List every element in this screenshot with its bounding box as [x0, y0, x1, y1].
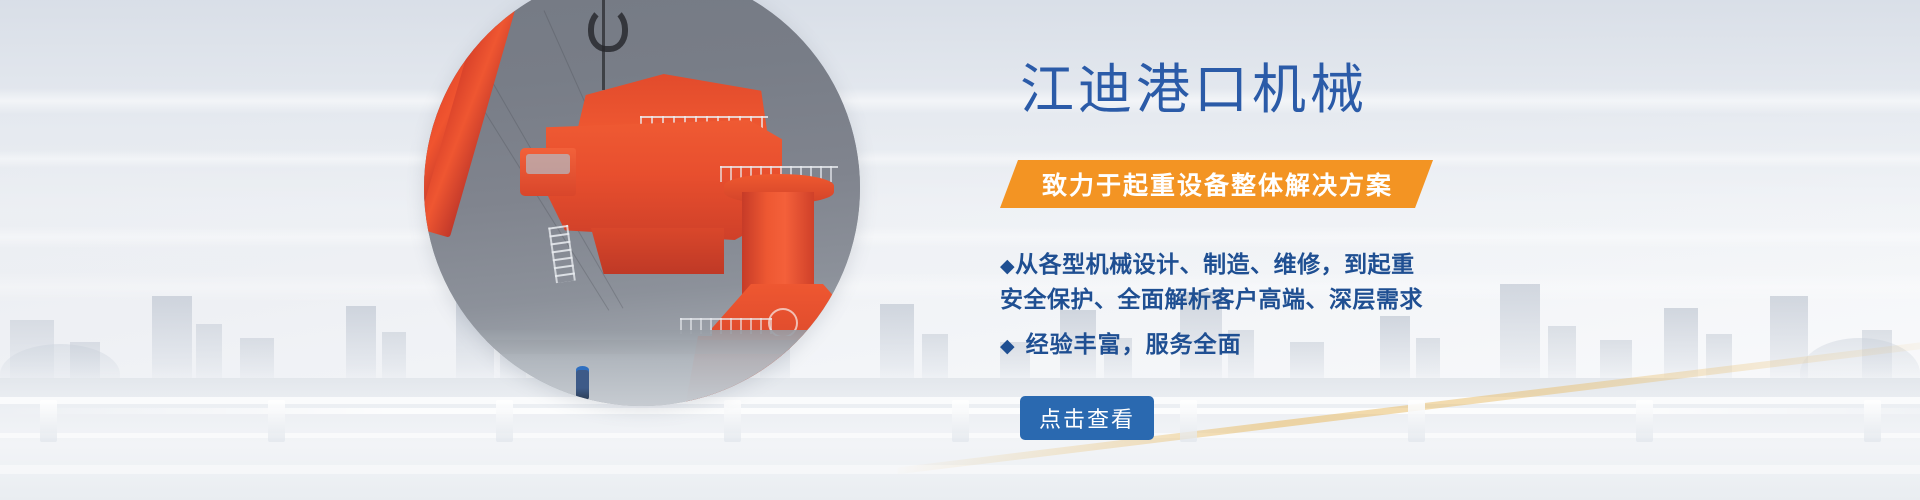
dock-worker	[576, 370, 589, 400]
slogan-ribbon: 致力于起重设备整体解决方案	[1000, 160, 1433, 208]
crane-photo-circle	[424, 0, 860, 406]
crane-hook	[588, 6, 628, 52]
harbor-water	[424, 330, 860, 406]
cloud-streak	[0, 150, 1920, 168]
page-title: 江迪港口机械	[1020, 58, 1368, 122]
feature-paragraph-line1: 从各型机械设计、制造、维修，到起重	[1015, 251, 1415, 277]
banner-content: 江迪港口机械 致力于起重设备整体解决方案 ◆从各型机械设计、制造、维修，到起重安…	[1010, 0, 1570, 500]
diamond-bullet-icon: ◆	[1000, 336, 1016, 357]
cab-window	[526, 154, 570, 174]
cloud-streak	[0, 88, 1920, 114]
feature-item-secondary: ◆经验丰富，服务全面	[1000, 328, 1242, 363]
crane-spreader	[584, 228, 724, 274]
feature-list: ◆从各型机械设计、制造、维修，到起重安全保护、全面解析客户高端、深层需求	[1000, 248, 1520, 316]
feature-paragraph-line2: 安全保护、全面解析客户高端、深层需求	[1000, 286, 1423, 312]
cloud-streak	[0, 272, 1920, 302]
sky-haze	[0, 0, 1920, 300]
background-scenery	[0, 0, 1920, 500]
city-skyline	[0, 252, 1920, 382]
diamond-bullet-icon: ◆	[1000, 256, 1015, 277]
view-details-button[interactable]: 点击查看	[1020, 396, 1154, 440]
slogan-text: 致力于起重设备整体解决方案	[1042, 166, 1393, 202]
waterline	[0, 380, 1920, 388]
cloud-streak	[0, 226, 1920, 248]
promo-banner: 江迪港口机械 致力于起重设备整体解决方案 ◆从各型机械设计、制造、维修，到起重安…	[0, 0, 1920, 500]
road	[0, 378, 1920, 500]
feature-item-secondary-label: 经验丰富，服务全面	[1026, 331, 1242, 357]
feature-paragraph: ◆从各型机械设计、制造、维修，到起重安全保护、全面解析客户高端、深层需求	[1000, 248, 1520, 316]
